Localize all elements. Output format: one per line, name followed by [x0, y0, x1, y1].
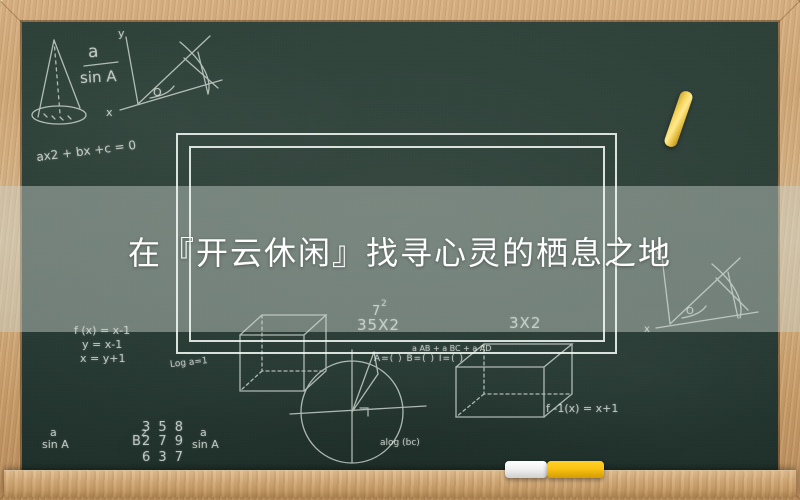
white-chalk [505, 461, 547, 478]
banner-stage: a sin A y x O ax2 + bx +c = 0 y x O 35X2… [0, 0, 800, 500]
yellow-chalk [547, 461, 604, 478]
page-title: 在『开云休闲』找寻心灵的栖息之地 [0, 228, 800, 274]
chalk-ledge [4, 470, 796, 497]
